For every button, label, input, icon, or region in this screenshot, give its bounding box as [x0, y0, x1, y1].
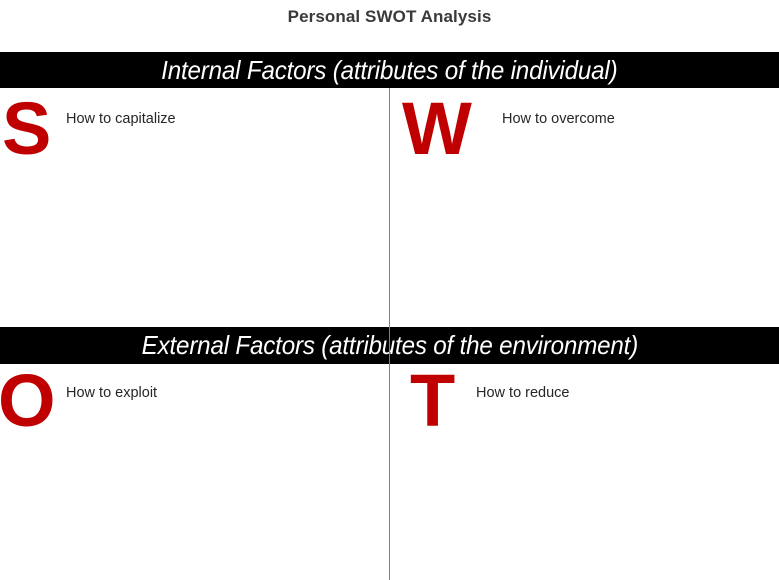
strengths-letter: S — [2, 92, 51, 166]
swot-analysis-diagram: Personal SWOT Analysis Internal Factors … — [0, 0, 779, 580]
opportunities-note: How to exploit — [66, 385, 157, 401]
vertical-divider — [389, 88, 390, 580]
opportunities-letter: O — [0, 364, 56, 438]
threats-note: How to reduce — [476, 385, 570, 401]
strengths-note: How to capitalize — [66, 111, 176, 127]
weaknesses-letter: W — [402, 92, 472, 166]
internal-factors-banner: Internal Factors (attributes of the indi… — [0, 52, 779, 88]
threats-letter: T — [410, 364, 455, 438]
internal-factors-banner-label: Internal Factors (attributes of the indi… — [161, 55, 617, 86]
page-title: Personal SWOT Analysis — [0, 6, 779, 28]
weaknesses-note: How to overcome — [502, 111, 615, 127]
